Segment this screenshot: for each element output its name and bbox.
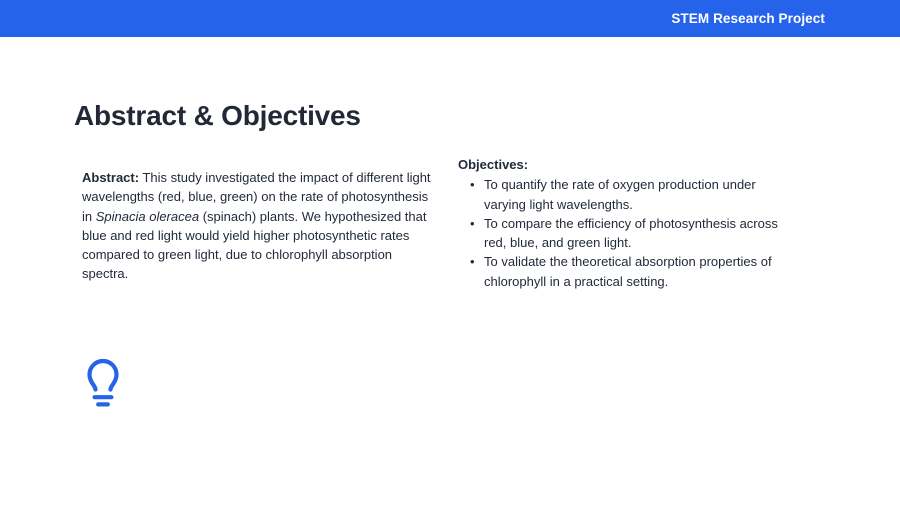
list-item: •To quantify the rate of oxygen producti…	[484, 175, 798, 214]
page-title: Abstract & Objectives	[74, 99, 361, 133]
objectives-heading: Objectives:	[458, 155, 798, 174]
content-columns: Abstract: This study investigated the im…	[82, 155, 798, 297]
slide-body: Abstract & Objectives Abstract: This stu…	[0, 37, 900, 507]
list-item-label: To validate the theoretical absorption p…	[484, 254, 772, 288]
list-item: •To compare the efficiency of photosynth…	[484, 214, 798, 253]
bullet-icon: •	[470, 175, 475, 194]
lightbulb-icon	[82, 355, 124, 409]
list-item-label: To quantify the rate of oxygen productio…	[484, 177, 756, 211]
bullet-icon: •	[470, 252, 475, 271]
objectives-list: •To quantify the rate of oxygen producti…	[458, 175, 798, 291]
header-title: STEM Research Project	[671, 12, 825, 26]
abstract-column: Abstract: This study investigated the im…	[82, 155, 434, 297]
header-bar: STEM Research Project	[0, 0, 900, 37]
abstract-paragraph: Abstract: This study investigated the im…	[82, 168, 434, 284]
bullet-icon: •	[470, 214, 475, 233]
species-name-italic: Spinacia oleracea	[96, 209, 199, 224]
objectives-column: Objectives: •To quantify the rate of oxy…	[458, 155, 798, 297]
list-item: •To validate the theoretical absorption …	[484, 252, 798, 291]
abstract-label: Abstract:	[82, 170, 139, 185]
list-item-label: To compare the efficiency of photosynthe…	[484, 216, 778, 250]
